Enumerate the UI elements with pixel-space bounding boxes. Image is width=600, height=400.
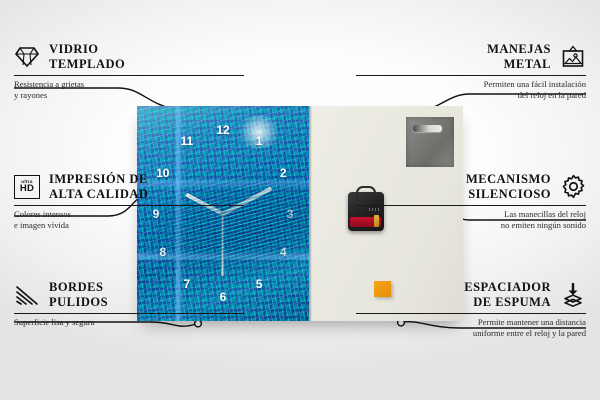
callout-title: IMPRESIÓN DEALTA CALIDAD <box>49 172 148 202</box>
hanging-frame-icon <box>560 44 586 70</box>
callout-header: VIDRIOTEMPLADO <box>14 42 244 76</box>
polished-edges-icon <box>14 282 40 308</box>
hanger-slot <box>413 125 443 132</box>
callout-header: ultra HD IMPRESIÓN DEALTA CALIDAD <box>14 172 244 206</box>
callout-header: MECANISMOSILENCIOSO <box>356 172 586 206</box>
ultra-hd-icon: ultra HD <box>14 174 40 200</box>
callout-subtitle: Colores intensose imagen vívida <box>14 206 244 232</box>
diamond-icon <box>14 44 40 70</box>
callout-title: BORDESPULIDOS <box>49 280 108 310</box>
numeral-11: 11 <box>181 134 194 148</box>
callout-title: MANEJASMETAL <box>487 42 551 72</box>
callout-title: VIDRIOTEMPLADO <box>49 42 125 72</box>
metal-hanger-plate <box>406 117 454 167</box>
callout-vidrio-templado: VIDRIOTEMPLADO Resistencia a grietasy ra… <box>14 42 244 102</box>
callout-header: MANEJASMETAL <box>356 42 586 76</box>
callout-subtitle: Las manecillas del relojno emiten ningún… <box>356 206 586 232</box>
callout-title: ESPACIADORDE ESPUMA <box>464 280 551 310</box>
gear-icon <box>560 174 586 200</box>
callout-mecanismo-silencioso: MECANISMOSILENCIOSO Las manecillas del r… <box>356 172 586 232</box>
callout-subtitle: Superficie lisa y segura <box>14 314 244 329</box>
numeral-2: 2 <box>280 166 287 180</box>
numeral-5: 5 <box>256 277 263 291</box>
numeral-8: 8 <box>159 245 166 259</box>
foam-spacer-icon <box>560 282 586 308</box>
callout-title: MECANISMOSILENCIOSO <box>466 172 551 202</box>
hd-label: HD <box>20 184 34 194</box>
numeral-1: 1 <box>256 134 263 148</box>
callout-manejas-metal: MANEJASMETAL Permiten una fácil instalac… <box>356 42 586 102</box>
callout-subtitle: Resistencia a grietasy rayones <box>14 76 244 102</box>
numeral-4: 4 <box>280 245 287 259</box>
callout-header: ESPACIADORDE ESPUMA <box>356 280 586 314</box>
infographic-stage: 12 1 2 3 4 5 6 7 8 9 10 11 <box>0 0 600 400</box>
callout-espaciador-de-espuma: ESPACIADORDE ESPUMA Permite mantener una… <box>356 280 586 340</box>
callout-subtitle: Permite mantener una distanciauniforme e… <box>356 314 586 340</box>
callout-impresion-alta-calidad: ultra HD IMPRESIÓN DEALTA CALIDAD Colore… <box>14 172 244 232</box>
callout-bordes-pulidos: BORDESPULIDOS Superficie lisa y segura <box>14 280 244 328</box>
callout-header: BORDESPULIDOS <box>14 280 244 314</box>
numeral-3: 3 <box>287 207 294 221</box>
numeral-12: 12 <box>216 123 229 137</box>
callout-subtitle: Permiten una fácil instalacióndel reloj … <box>356 76 586 102</box>
